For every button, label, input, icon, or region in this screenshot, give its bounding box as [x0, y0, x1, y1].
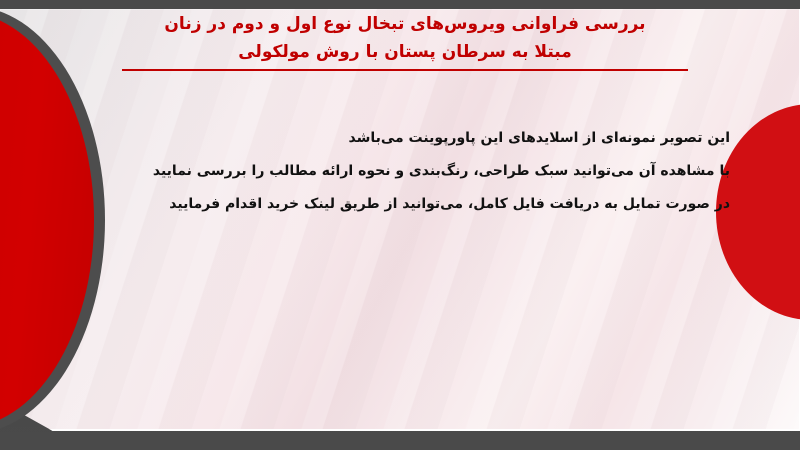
body-line-3: در صورت تمایل به دریافت فایل کامل، می‌تو… [70, 188, 730, 221]
title-line-1: بررسی فراوانی ویروس‌های تبخال نوع اول و … [60, 10, 750, 38]
body-line-1: این تصویر نمونه‌ای از اسلایدهای این پاور… [70, 122, 730, 155]
presentation-slide: بررسی فراوانی ویروس‌های تبخال نوع اول و … [0, 0, 800, 450]
body-line-2: با مشاهده آن می‌توانید سبک طراحی، رنگ‌بن… [70, 155, 730, 188]
slide-title: بررسی فراوانی ویروس‌های تبخال نوع اول و … [60, 10, 750, 71]
title-line-2: مبتلا به سرطان پستان با روش مولکولی [60, 38, 750, 66]
title-underline-rule [122, 69, 688, 71]
slide-body-text: این تصویر نمونه‌ای از اسلایدهای این پاور… [70, 122, 730, 221]
